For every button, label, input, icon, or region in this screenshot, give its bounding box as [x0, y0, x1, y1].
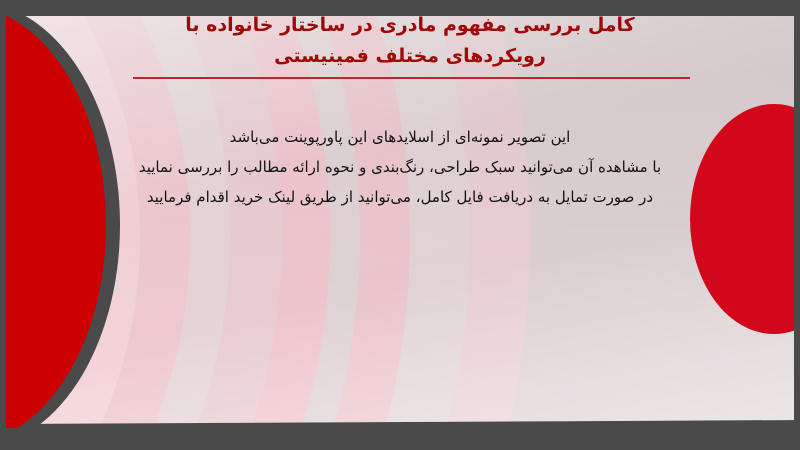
slide-title-line-1: کامل بررسی مفهوم مادری در ساختار خانواده…: [110, 10, 710, 41]
body-line-2: با مشاهده آن می‌توانید سبک طراحی، رنگ‌بن…: [70, 152, 730, 182]
slide-body-text: این تصویر نمونه‌ای از اسلایدهای این پاور…: [70, 122, 730, 212]
body-line-3: در صورت تمایل به دریافت فایل کامل، می‌تو…: [70, 182, 730, 212]
slide-title: کامل بررسی مفهوم مادری در ساختار خانواده…: [110, 10, 710, 72]
frame-band-bottom: [0, 428, 800, 450]
presentation-slide: کامل بررسی مفهوم مادری در ساختار خانواده…: [0, 0, 800, 450]
slide-title-line-2: رویکردهای مختلف فمینیستی: [110, 41, 710, 72]
title-underline-rule: [133, 77, 690, 79]
panel-background-arcs: [0, 12, 800, 424]
body-line-1: این تصویر نمونه‌ای از اسلایدهای این پاور…: [70, 122, 730, 152]
slide-content-panel: [0, 12, 800, 424]
frame-band-right: [794, 0, 800, 450]
frame-band-left: [0, 0, 6, 450]
